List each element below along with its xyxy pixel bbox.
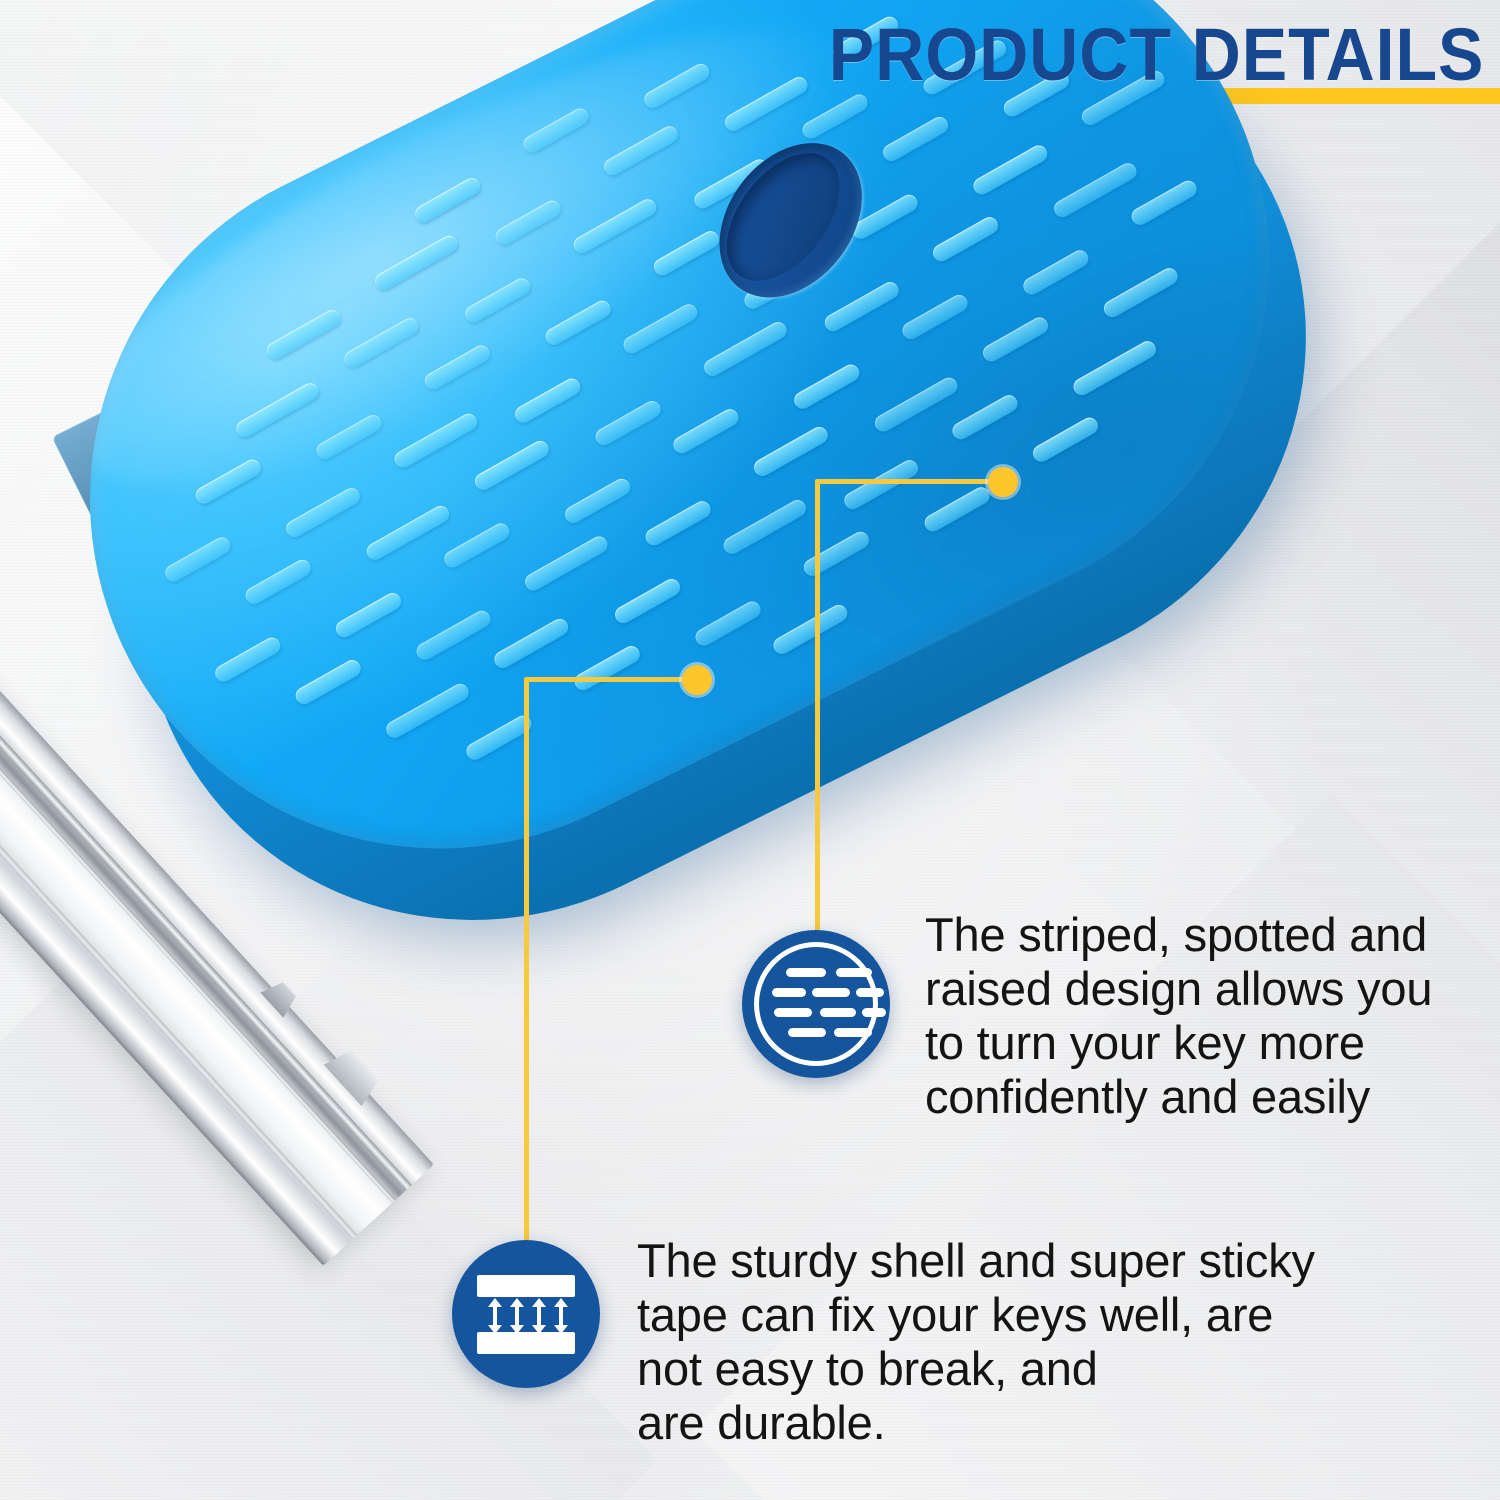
raised-dash [930,214,1001,264]
raised-dash [212,635,283,685]
raised-dash [572,643,643,693]
page-title: PRODUCT DETAILS [829,6,1494,92]
raised-dash [1051,160,1139,220]
raised-dash [822,279,902,334]
raised-dash [1129,178,1200,228]
raised-dash [472,438,552,493]
raised-dash [414,608,494,663]
callout-badge-2 [452,1240,600,1388]
leader-endpoint-dot [988,467,1018,497]
leader-horizontal [818,479,1006,484]
raised-dash [243,557,314,607]
raised-dash [643,498,714,548]
raised-dash [593,398,664,448]
raised-dash [522,533,610,593]
page-title-block: PRODUCT DETAILS [771,6,1494,92]
raised-dash [612,576,683,626]
leader-vertical [524,677,529,1242]
raised-dash [333,590,404,640]
raised-dash [880,114,951,164]
raised-dash [562,476,633,526]
callout-text-2: The sturdy shell and super sticky tape c… [637,1234,1427,1450]
raised-dash [283,485,363,540]
raised-dash [383,681,471,741]
badge-inner-ring [754,942,878,1066]
raised-dash [491,616,571,671]
raised-dash [364,503,452,563]
callout-badge-1 [742,930,890,1078]
raised-dash [701,319,789,379]
raised-dash [162,534,233,584]
raised-dash [512,376,583,426]
raised-dash [293,657,364,707]
raised-dash [970,142,1050,197]
product-details-image: PRODUCT DETAILS [0,0,1500,1500]
leader-endpoint-dot [682,665,712,695]
leader-horizontal [527,677,700,682]
callout-text-1: The striped, spotted and raised design a… [925,908,1485,1124]
leader-vertical [815,479,820,934]
raised-dash [441,520,512,570]
raised-dash [670,406,741,456]
